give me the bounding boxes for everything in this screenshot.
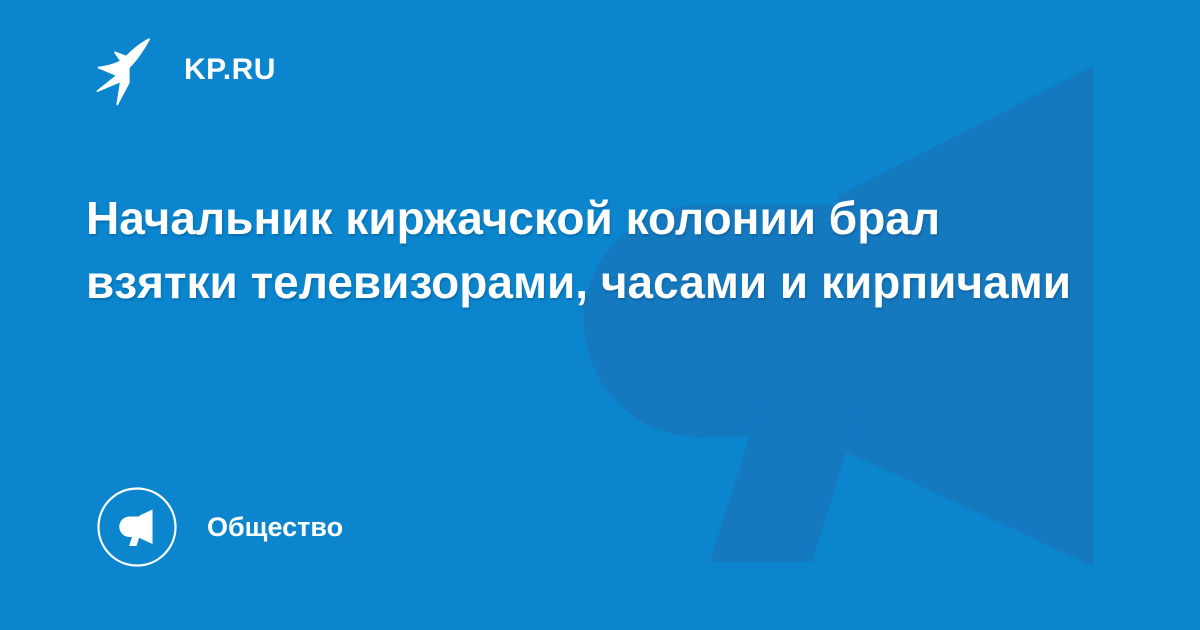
brand-name: KP.RU — [184, 55, 276, 85]
swallow-bird-icon — [88, 33, 162, 107]
headline: Начальник киржачской колонии брал взятки… — [86, 186, 1096, 314]
category-label: Общество — [207, 514, 343, 541]
share-card: KP.RU Начальник киржачской колонии брал … — [0, 0, 1200, 630]
megaphone-icon — [96, 486, 178, 568]
category-badge[interactable]: Общество — [96, 486, 343, 568]
brand-logo-row[interactable]: KP.RU — [88, 32, 276, 108]
